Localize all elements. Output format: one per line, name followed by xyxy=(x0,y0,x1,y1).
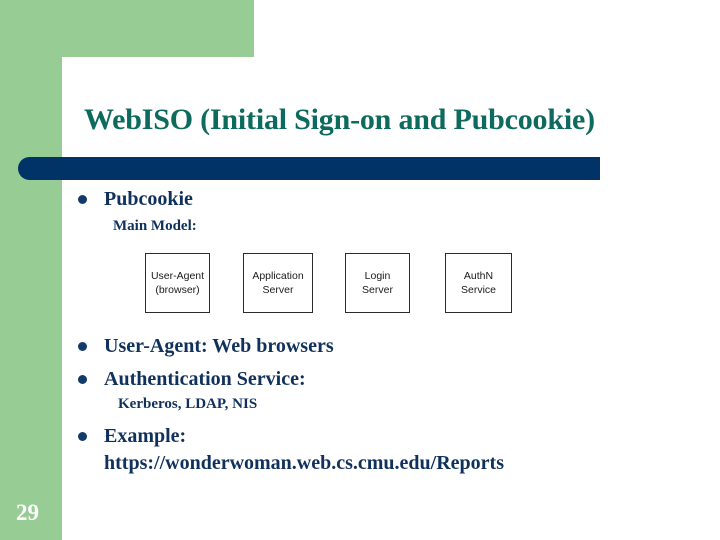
presentation-slide: WebISO (Initial Sign-on and Pubcookie) P… xyxy=(0,0,720,540)
bullet-label-pubcookie: Pubcookie xyxy=(104,186,193,213)
diagram-box-authn-service-line2: Service xyxy=(461,283,496,297)
pubcookie-model-diagram: User-Agent (browser) Application Server … xyxy=(145,253,545,315)
bullet-dot-icon xyxy=(78,342,87,351)
bullet-item-user-agent: User-Agent: Web browsers xyxy=(78,333,678,360)
sublabel-main-model: Main Model: xyxy=(113,215,678,237)
diagram-box-user-agent-line2: (browser) xyxy=(155,283,199,297)
diagram-box-login-server-line2: Server xyxy=(362,283,393,297)
green-left-band-decoration xyxy=(0,0,62,540)
green-top-block-decoration xyxy=(0,0,254,57)
title-underline-bar xyxy=(18,157,600,180)
slide-page-number: 29 xyxy=(16,500,39,526)
bullet-dot-icon xyxy=(78,432,87,441)
bullet-dot-icon xyxy=(78,195,87,204)
diagram-box-user-agent-line1: User-Agent xyxy=(151,269,204,283)
bullet-label-example: Example: https://wonderwoman.web.cs.cmu.… xyxy=(104,423,504,477)
slide-body: Pubcookie Main Model: xyxy=(78,186,678,237)
bullet-item-pubcookie: Pubcookie xyxy=(78,186,678,213)
diagram-box-application-server: Application Server xyxy=(243,253,313,313)
page-title: WebISO (Initial Sign-on and Pubcookie) xyxy=(84,100,714,140)
diagram-box-user-agent: User-Agent (browser) xyxy=(145,253,210,313)
diagram-box-login-server-line1: Login xyxy=(365,269,391,283)
diagram-box-login-server: Login Server xyxy=(345,253,410,313)
diagram-box-authn-service-line1: AuthN xyxy=(464,269,493,283)
bullet-dot-icon xyxy=(78,375,87,384)
slide-body-lower: User-Agent: Web browsers Authentication … xyxy=(78,333,678,477)
diagram-box-application-server-line1: Application xyxy=(252,269,303,283)
bullet-label-authentication-service: Authentication Service: xyxy=(104,366,306,393)
bullet-item-authentication-service: Authentication Service: xyxy=(78,366,678,393)
sublabel-kerberos-ldap-nis: Kerberos, LDAP, NIS xyxy=(118,393,678,415)
bullet-label-user-agent: User-Agent: Web browsers xyxy=(104,333,334,360)
diagram-box-authn-service: AuthN Service xyxy=(445,253,512,313)
bullet-item-example: Example: https://wonderwoman.web.cs.cmu.… xyxy=(78,423,678,477)
diagram-box-application-server-line2: Server xyxy=(263,283,294,297)
